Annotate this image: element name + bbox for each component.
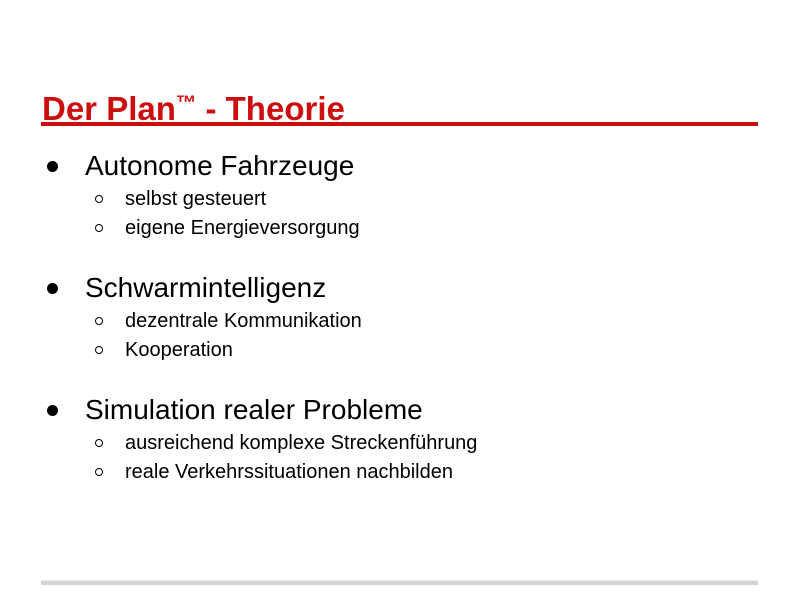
bullet-level2: dezentrale Kommunikation xyxy=(0,307,800,336)
bullet-group: Schwarmintelligenz dezentrale Kommunikat… xyxy=(0,270,800,365)
bullet-level1-label: Simulation realer Probleme xyxy=(85,394,423,425)
bullet-group: Autonome Fahrzeuge selbst gesteuert eige… xyxy=(0,148,800,243)
bullet-level2-label: eigene Energieversorgung xyxy=(125,217,360,239)
hollow-bullet-icon xyxy=(95,317,103,325)
bullet-level1: Simulation realer Probleme xyxy=(0,392,800,428)
bullet-level1: Autonome Fahrzeuge xyxy=(0,148,800,184)
bullet-level2: reale Verkehrssituationen nachbilden xyxy=(0,458,800,487)
bullet-level2-label: dezentrale Kommunikation xyxy=(125,310,362,332)
bullet-level2-label: selbst gesteuert xyxy=(125,188,266,210)
bullet-level1-label: Schwarmintelligenz xyxy=(85,272,326,303)
hollow-bullet-icon xyxy=(95,468,103,476)
title-divider-rule xyxy=(41,122,758,126)
hollow-bullet-icon xyxy=(95,439,103,447)
bullet-sublist: dezentrale Kommunikation Kooperation xyxy=(0,307,800,365)
bullet-level2: selbst gesteuert xyxy=(0,185,800,214)
bullet-sublist: ausreichend komplexe Streckenführung rea… xyxy=(0,429,800,487)
bullet-level1: Schwarmintelligenz xyxy=(0,270,800,306)
hollow-bullet-icon xyxy=(95,195,103,203)
filled-bullet-icon xyxy=(47,161,58,172)
presentation-slide: Der Plan™ - Theorie Autonome Fahrzeuge s… xyxy=(0,0,800,600)
bullet-level1-label: Autonome Fahrzeuge xyxy=(85,150,354,181)
bullet-level2-label: Kooperation xyxy=(125,339,233,361)
filled-bullet-icon xyxy=(47,405,58,416)
bullet-level2-label: reale Verkehrssituationen nachbilden xyxy=(125,461,453,483)
bullet-sublist: selbst gesteuert eigene Energieversorgun… xyxy=(0,185,800,243)
slide-body-content: Autonome Fahrzeuge selbst gesteuert eige… xyxy=(0,148,800,487)
hollow-bullet-icon xyxy=(95,346,103,354)
filled-bullet-icon xyxy=(47,283,58,294)
bullet-level2-label: ausreichend komplexe Streckenführung xyxy=(125,432,477,454)
bullet-level2: Kooperation xyxy=(0,336,800,365)
trademark-symbol: ™ xyxy=(176,91,196,114)
bullet-level2: eigene Energieversorgung xyxy=(0,214,800,243)
footer-divider-rule xyxy=(41,580,758,585)
bullet-group: Simulation realer Probleme ausreichend k… xyxy=(0,392,800,487)
hollow-bullet-icon xyxy=(95,224,103,232)
bullet-level2: ausreichend komplexe Streckenführung xyxy=(0,429,800,458)
